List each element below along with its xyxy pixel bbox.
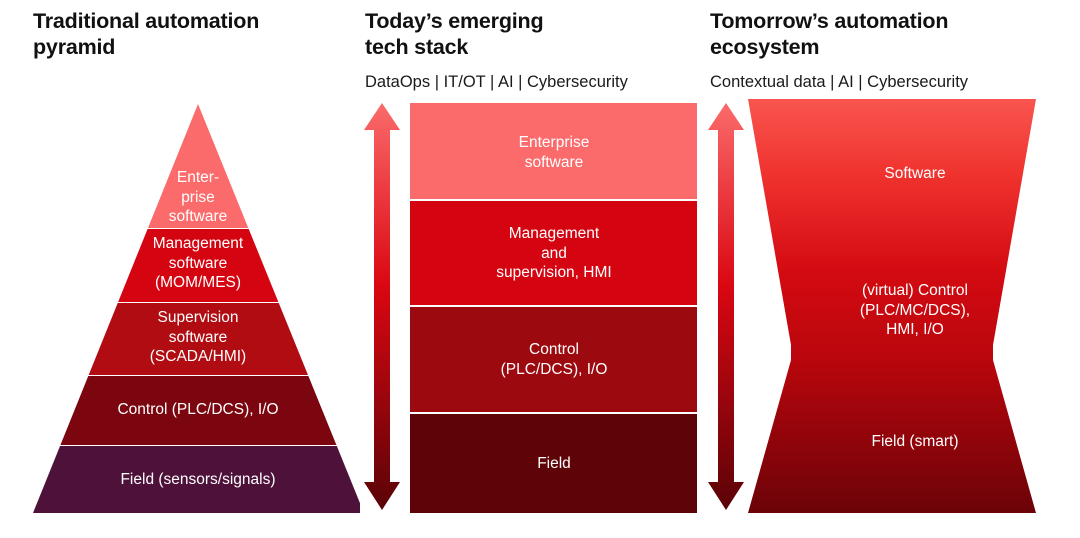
double-headed-arrow-icon-today [364,103,400,510]
stack-graphic [360,0,705,538]
stack-band-enterprise [410,103,697,199]
pyramid-band-enterprise [0,104,360,228]
stack-band-field [410,414,697,513]
column-traditional-automation-pyramid: Traditional automation pyramid Enter- pr… [0,0,360,538]
column-tomorrows-automation-ecosystem: Tomorrow’s automation ecosystem Contextu… [705,0,1080,538]
hourglass-body [748,99,1036,513]
pyramid-band-control [0,376,360,445]
pyramid-band-supervision [0,303,360,375]
pyramid-band-field [0,446,360,514]
pyramid-graphic [0,0,360,538]
double-headed-arrow-icon-tomorrow [708,103,744,510]
pyramid-band-management [0,229,360,302]
stack-band-control [410,307,697,412]
stack-band-management [410,201,697,305]
column-todays-emerging-tech-stack: Today’s emerging tech stack DataOps | IT… [360,0,705,538]
hourglass-graphic [705,0,1080,538]
